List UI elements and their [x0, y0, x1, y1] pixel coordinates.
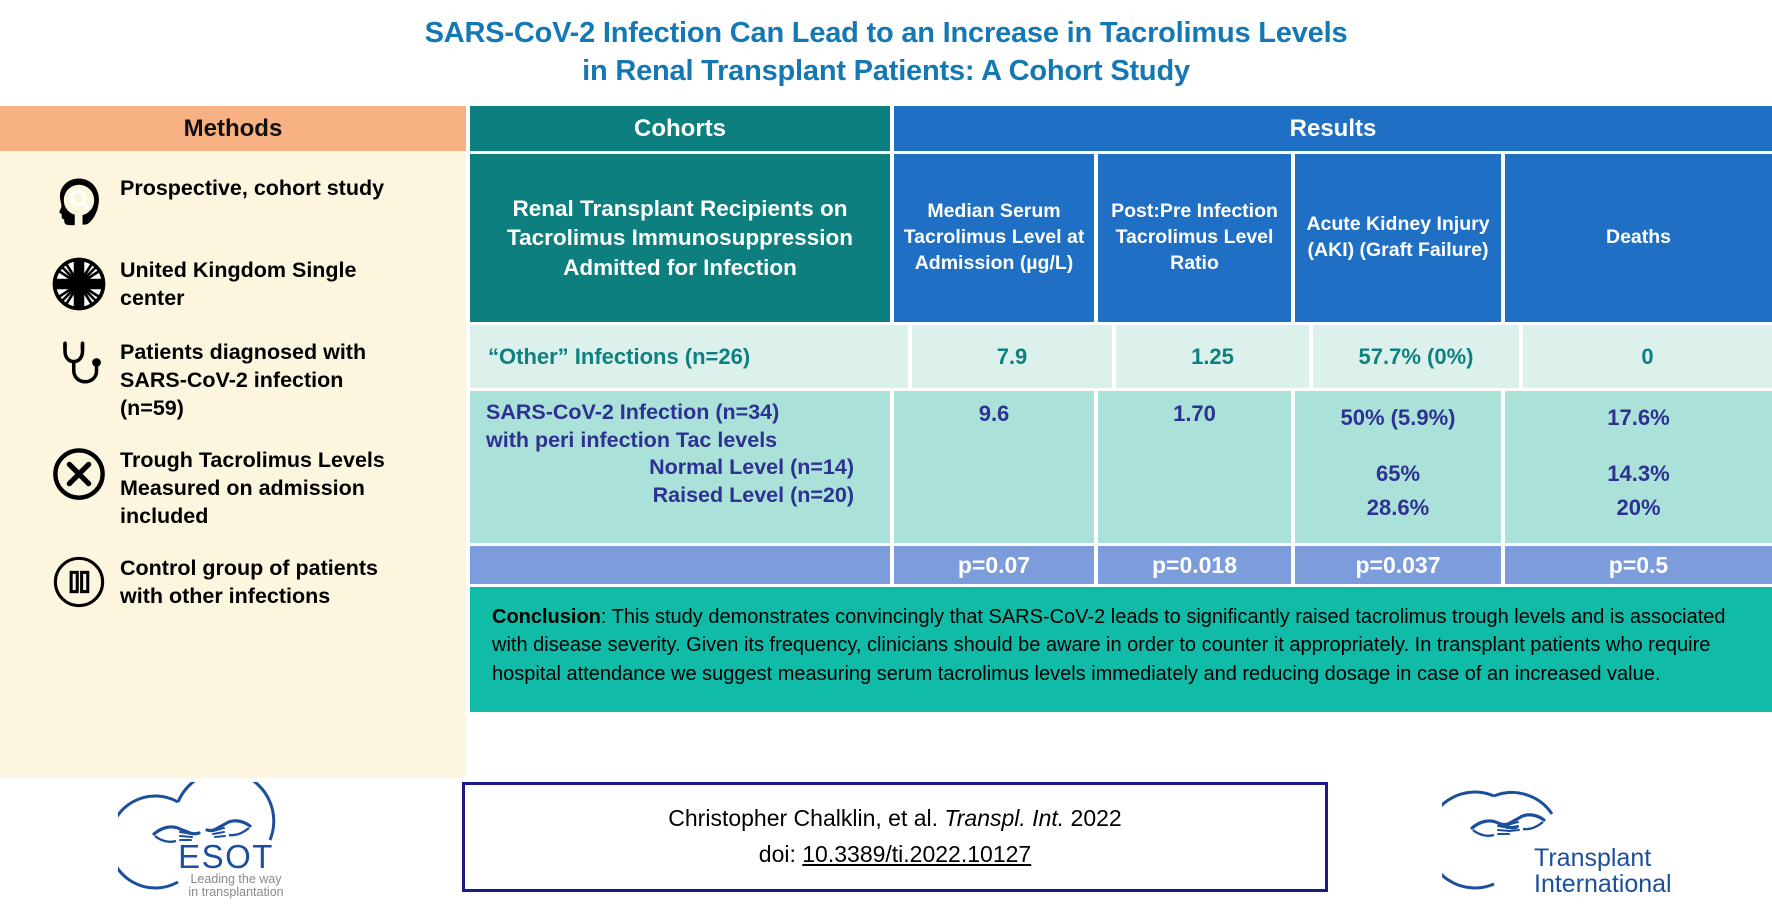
uk-flag-icon — [48, 253, 110, 315]
page-title: SARS-CoV-2 Infection Can Lead to an Incr… — [0, 0, 1772, 104]
pvalue-row-empty-label — [470, 546, 890, 584]
methods-item-label: Patients diagnosed with SARS-CoV-2 infec… — [110, 335, 410, 423]
citation-line-authors: Christopher Chalklin, et al. Transpl. In… — [668, 801, 1121, 837]
row-label-other-infections: “Other” Infections (n=26) — [470, 325, 908, 388]
table-header-row-top: Cohorts Results — [470, 106, 1772, 151]
table-row-other-infections: “Other” Infections (n=26) 7.9 1.25 57.7%… — [470, 325, 1772, 388]
row-label-line1: SARS-CoV-2 Infection (n=34) — [486, 399, 779, 427]
methods-item-label: Trough Tacrolimus Levels Measured on adm… — [110, 443, 410, 531]
circle-x-icon — [48, 443, 110, 505]
doi-label: doi: — [759, 841, 796, 867]
circle-pause-icon — [48, 551, 110, 613]
column-header-aki: Acute Kidney Injury (AKI) (Graft Failure… — [1295, 154, 1501, 322]
row-label-raised-level: Raised Level (n=20) — [653, 482, 880, 510]
ti-wordmark-line2: International — [1534, 870, 1672, 898]
cell-covid-aki-normal: 65% — [1376, 457, 1420, 491]
pvalue-aki: p=0.037 — [1295, 546, 1501, 584]
footer: ESOT Leading the way in transplantation … — [0, 778, 1772, 903]
cell-covid-aki-raised: 28.6% — [1367, 491, 1429, 525]
row-label-sars-cov-2: SARS-CoV-2 Infection (n=34) with peri in… — [470, 391, 890, 543]
cell-other-median-tac: 7.9 — [912, 325, 1112, 388]
citation-authors: Christopher Chalklin, et al. — [668, 805, 938, 831]
cell-covid-aki: 50% (5.9%) 65% 28.6% — [1295, 391, 1501, 543]
pvalue-deaths: p=0.5 — [1505, 546, 1772, 584]
conclusion-text: : This study demonstrates convincingly t… — [492, 606, 1726, 685]
methods-body: Prospective, cohort study — [0, 151, 466, 778]
cell-covid-deaths: 17.6% 14.3% 20% — [1505, 391, 1772, 543]
cell-other-aki: 57.7% (0%) — [1313, 325, 1519, 388]
esot-wordmark: ESOT — [178, 838, 274, 875]
cell-other-ratio: 1.25 — [1116, 325, 1309, 388]
methods-header: Methods — [0, 106, 466, 151]
conclusion-label: Conclusion — [492, 606, 601, 628]
column-header-post-pre-ratio: Post:Pre Infection Tacrolimus Level Rati… — [1098, 154, 1291, 322]
methods-item-label: Prospective, cohort study — [110, 171, 384, 203]
table-header-row-columns: Renal Transplant Recipients on Tacrolimu… — [470, 154, 1772, 322]
methods-column: Methods Prospective, cohort study — [0, 106, 466, 778]
ti-wordmark-line1: Transplant — [1534, 844, 1651, 872]
cell-covid-deaths-normal: 14.3% — [1607, 457, 1669, 491]
cell-other-deaths: 0 — [1523, 325, 1772, 388]
row-label-line2: with peri infection Tac levels — [486, 427, 777, 455]
methods-item-label: United Kingdom Single center — [110, 253, 410, 313]
cell-covid-median-tac: 9.6 — [894, 391, 1094, 543]
methods-item-control-group: Control group of patients with other inf… — [0, 551, 466, 613]
page-title-line1: SARS-CoV-2 Infection Can Lead to an Incr… — [425, 14, 1348, 52]
esot-logo: ESOT Leading the way in transplantation — [118, 782, 338, 900]
methods-item-trough-levels: Trough Tacrolimus Levels Measured on adm… — [0, 443, 466, 531]
cohort-subheader: Renal Transplant Recipients on Tacrolimu… — [470, 154, 890, 322]
doi-link[interactable]: 10.3389/ti.2022.10127 — [802, 841, 1031, 867]
column-header-deaths: Deaths — [1505, 154, 1772, 322]
cell-covid-deaths-raised: 20% — [1616, 491, 1660, 525]
results-table: Cohorts Results Renal Transplant Recipie… — [470, 106, 1772, 778]
citation-line-doi: doi: 10.3389/ti.2022.10127 — [759, 837, 1031, 873]
head-search-icon — [48, 171, 110, 233]
cell-covid-aki-main: 50% (5.9%) — [1341, 401, 1456, 435]
table-row-sars-cov-2: SARS-CoV-2 Infection (n=34) with peri in… — [470, 391, 1772, 543]
cell-covid-deaths-main: 17.6% — [1607, 401, 1669, 435]
table-row-pvalues: p=0.07 p=0.018 p=0.037 p=0.5 — [470, 546, 1772, 584]
results-header: Results — [894, 106, 1772, 151]
methods-item-prospective-cohort: Prospective, cohort study — [0, 171, 466, 233]
esot-tagline-line2: in transplantation — [188, 885, 283, 899]
cohorts-header: Cohorts — [470, 106, 890, 151]
cell-covid-ratio: 1.70 — [1098, 391, 1291, 543]
conclusion-box: Conclusion: This study demonstrates conv… — [470, 587, 1772, 712]
methods-item-patients-diagnosed: Patients diagnosed with SARS-CoV-2 infec… — [0, 335, 466, 423]
transplant-international-logo: Transplant International — [1442, 782, 1742, 900]
citation-box: Christopher Chalklin, et al. Transpl. In… — [462, 782, 1328, 892]
stethoscope-icon — [48, 335, 110, 397]
citation-year: 2022 — [1071, 805, 1122, 831]
esot-tagline-line1: Leading the way — [190, 872, 282, 886]
methods-item-label: Control group of patients with other inf… — [110, 551, 410, 611]
row-label-normal-level: Normal Level (n=14) — [649, 454, 880, 482]
page-title-line2: in Renal Transplant Patients: A Cohort S… — [582, 52, 1190, 90]
methods-item-uk-single-center: United Kingdom Single center — [0, 253, 466, 315]
citation-journal: Transpl. Int. — [944, 805, 1064, 831]
pvalue-ratio: p=0.018 — [1098, 546, 1291, 584]
column-header-median-tacrolimus: Median Serum Tacrolimus Level at Admissi… — [894, 154, 1094, 322]
visual-abstract-board: Methods Prospective, cohort study — [0, 106, 1772, 778]
pvalue-median-tac: p=0.07 — [894, 546, 1094, 584]
